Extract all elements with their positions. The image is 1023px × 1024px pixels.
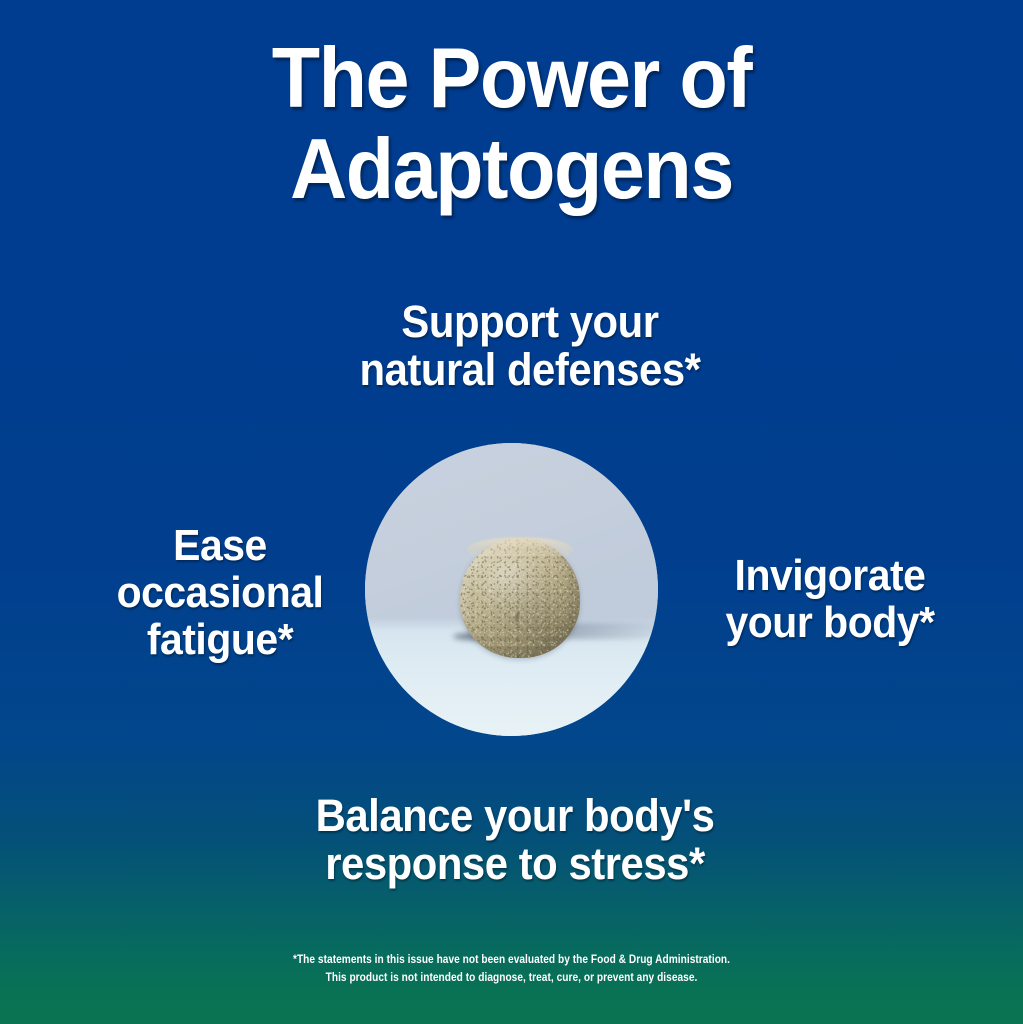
supplement-tablet-photo <box>365 443 658 736</box>
adaptogens-poster: The Power of Adaptogens Support your nat… <box>0 0 1023 1024</box>
benefit-invigorate-your-body: Invigorate your body* <box>653 552 1006 646</box>
benefit-support-natural-defenses: Support your natural defenses* <box>37 298 1023 394</box>
page-title: The Power of Adaptogens <box>36 34 987 216</box>
benefit-balance-stress-response: Balance your body's response to stress* <box>36 792 994 888</box>
legal-disclaimer: *The statements in this issue have not b… <box>61 952 961 988</box>
benefit-ease-occasional-fatigue: Ease occasional fatigue* <box>34 522 406 663</box>
tablet-icon <box>460 538 580 658</box>
